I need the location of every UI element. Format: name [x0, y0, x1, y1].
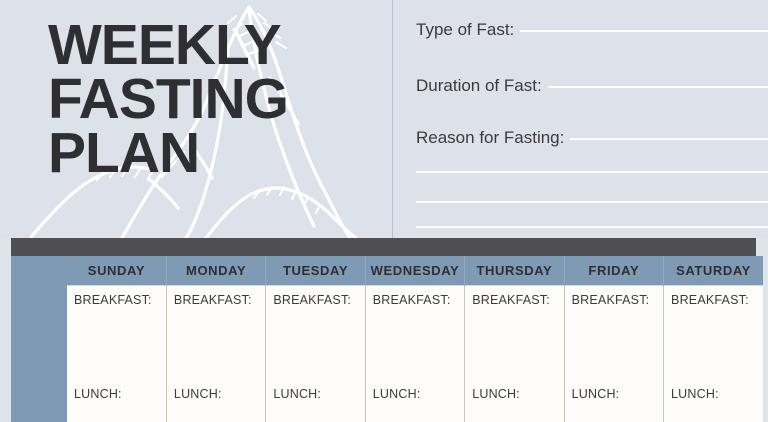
- weekly-planner-table-wrapper: SUNDAY MONDAY TUESDAY WEDNESDAY THURSDAY…: [67, 256, 763, 422]
- day-cell-saturday[interactable]: BREAKFAST: LUNCH:: [664, 286, 763, 422]
- meal-label-breakfast: BREAKFAST:: [671, 293, 749, 307]
- section-divider-bar: [11, 238, 756, 256]
- meal-label-lunch: LUNCH:: [572, 387, 620, 401]
- meal-label-lunch: LUNCH:: [273, 387, 321, 401]
- meal-label-lunch: LUNCH:: [174, 387, 222, 401]
- meal-label-breakfast: BREAKFAST:: [373, 293, 451, 307]
- left-margin-panel: [11, 256, 67, 422]
- meal-label-breakfast: BREAKFAST:: [572, 293, 650, 307]
- field-reason-for-fasting-label: Reason for Fasting:: [416, 128, 564, 148]
- field-duration-of-fast-input[interactable]: [548, 86, 768, 88]
- blank-write-line-3[interactable]: [416, 226, 768, 228]
- day-cell-sunday[interactable]: BREAKFAST: LUNCH:: [67, 286, 166, 422]
- title-line-1: WEEKLY: [48, 18, 388, 72]
- column-header-tuesday: TUESDAY: [266, 256, 365, 286]
- weekly-fasting-plan-page: WEEKLY FASTING PLAN Type of Fast: Durati…: [0, 0, 768, 422]
- day-cell-thursday[interactable]: BREAKFAST: LUNCH:: [465, 286, 564, 422]
- field-reason-for-fasting-input[interactable]: [570, 138, 768, 140]
- weekly-planner-table: SUNDAY MONDAY TUESDAY WEDNESDAY THURSDAY…: [67, 256, 763, 422]
- meal-label-lunch: LUNCH:: [74, 387, 122, 401]
- field-type-of-fast[interactable]: Type of Fast:: [416, 20, 768, 46]
- day-cell-friday[interactable]: BREAKFAST: LUNCH:: [564, 286, 663, 422]
- column-header-thursday: THURSDAY: [465, 256, 564, 286]
- header-banner: WEEKLY FASTING PLAN Type of Fast: Durati…: [0, 0, 768, 238]
- column-header-sunday: SUNDAY: [67, 256, 166, 286]
- banner-vertical-divider: [392, 0, 393, 238]
- title-line-3: PLAN: [48, 126, 388, 180]
- fasting-details-form: Type of Fast: Duration of Fast: Reason f…: [416, 0, 768, 238]
- meal-label-lunch: LUNCH:: [472, 387, 520, 401]
- meal-label-breakfast: BREAKFAST:: [472, 293, 550, 307]
- day-cell-wednesday[interactable]: BREAKFAST: LUNCH:: [365, 286, 464, 422]
- table-row: BREAKFAST: LUNCH: BREAKFAST: LUNCH: BREA…: [67, 286, 763, 422]
- day-cell-monday[interactable]: BREAKFAST: LUNCH:: [166, 286, 265, 422]
- column-header-monday: MONDAY: [166, 256, 265, 286]
- column-header-friday: FRIDAY: [564, 256, 663, 286]
- blank-write-line-1[interactable]: [416, 171, 768, 173]
- day-cell-tuesday[interactable]: BREAKFAST: LUNCH:: [266, 286, 365, 422]
- column-header-wednesday: WEDNESDAY: [365, 256, 464, 286]
- field-reason-for-fasting[interactable]: Reason for Fasting:: [416, 128, 768, 154]
- column-header-saturday: SATURDAY: [664, 256, 763, 286]
- page-title: WEEKLY FASTING PLAN: [48, 18, 388, 180]
- field-type-of-fast-label: Type of Fast:: [416, 20, 514, 40]
- field-type-of-fast-input[interactable]: [520, 30, 768, 32]
- field-duration-of-fast-label: Duration of Fast:: [416, 76, 542, 96]
- title-line-2: FASTING: [48, 72, 388, 126]
- meal-label-lunch: LUNCH:: [373, 387, 421, 401]
- blank-write-line-2[interactable]: [416, 201, 768, 203]
- meal-label-breakfast: BREAKFAST:: [74, 293, 152, 307]
- meal-label-breakfast: BREAKFAST:: [174, 293, 252, 307]
- meal-label-breakfast: BREAKFAST:: [273, 293, 351, 307]
- table-header-row: SUNDAY MONDAY TUESDAY WEDNESDAY THURSDAY…: [67, 256, 763, 286]
- meal-label-lunch: LUNCH:: [671, 387, 719, 401]
- field-duration-of-fast[interactable]: Duration of Fast:: [416, 76, 768, 102]
